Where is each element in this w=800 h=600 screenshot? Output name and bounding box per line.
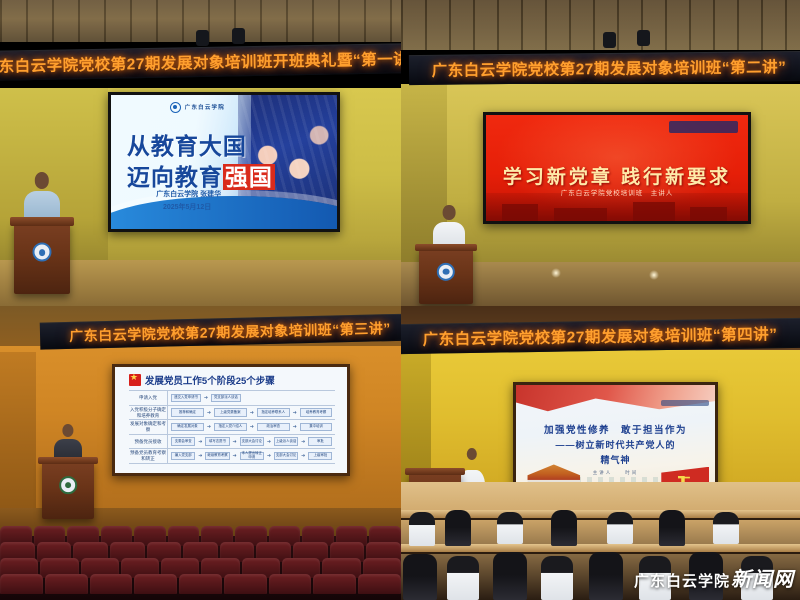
arrow-icon: ➜: [250, 410, 254, 416]
projector-screen-1: 广东白云学院 从教育大国 迈向教育强国 广东白云学院 张建华 2025年5月12…: [108, 92, 340, 232]
slide-4-title-line-1: 加强党性修养 敢于担当作为: [516, 422, 715, 436]
slide-2-building: [502, 204, 539, 221]
arrow-icon: ➜: [207, 410, 211, 416]
slide-4: 加强党性修养 敢于担当作为 ——树立新时代共产党人的 精气神 主讲人 时间: [516, 385, 715, 497]
podium-top: [415, 244, 477, 251]
slide-1-logo: 广东白云学院: [170, 102, 225, 113]
student: [493, 552, 527, 600]
step-cell: 推荐和确定: [171, 408, 204, 416]
slide-3-flow-table: 申请入党 递交入党申请书 ➜ 党支部派人谈话 入党积极分子确定和培养教育 推荐和…: [129, 390, 336, 467]
slide-1-subtitle-2: 2025年5月12日: [163, 202, 211, 212]
student: [447, 556, 479, 600]
student: [445, 510, 471, 546]
step-cell: 填写志愿书: [205, 437, 229, 445]
seat: [0, 574, 43, 594]
slide-2: 学习新党章 践行新要求 广东白云学院党校培训班 主讲人: [486, 115, 748, 221]
party-emblem-icon: [129, 374, 141, 386]
stage-steps: 确定发展对象 ➜ 指定入党介绍人 ➜ 政治审查 ➜ 集中培训: [168, 420, 335, 434]
wall-left-3: [0, 352, 36, 520]
step-cell: 上级党委备案: [214, 408, 247, 416]
collage-panel-2: 广东白云学院党校第27期发展对象培训班“第二讲” 学习新党章 践行新要求 广东白…: [401, 0, 800, 306]
table-row: 申请入党 递交入党申请书 ➜ 党支部派人谈话: [129, 391, 336, 406]
student: [713, 512, 739, 544]
step-cell: 继续教育考察: [205, 452, 229, 460]
arrow-icon: ➜: [250, 424, 254, 430]
slide-2-building: [554, 208, 606, 221]
floor-spotlight: [649, 270, 659, 280]
arrow-icon: ➜: [207, 424, 211, 430]
step-cell: 党支部派人谈话: [211, 394, 241, 402]
stage-steps: 推荐和确定 ➜ 上级党委备案 ➜ 指定培养联系人 ➜ 培养教育考察: [168, 406, 335, 420]
arrow-icon: ➜: [233, 439, 237, 445]
seat: [224, 574, 267, 594]
projector-screen-2: 学习新党章 践行新要求 广东白云学院党校培训班 主讲人: [483, 112, 751, 224]
seat: [358, 574, 401, 594]
student: [541, 556, 573, 600]
step-cell: 审批: [308, 437, 332, 445]
projector-screen-3: 发展党员工作5个阶段25个步骤 申请入党 递交入党申请书 ➜ 党支部派人谈话 入…: [112, 364, 350, 476]
speaker-head: [467, 448, 477, 460]
speaker-head: [35, 172, 49, 189]
student: [409, 512, 435, 546]
slide-2-corner-tag: [669, 121, 737, 133]
student: [659, 510, 685, 546]
student: [589, 552, 623, 600]
stage-label: 发展对象确定和考察: [129, 420, 168, 434]
seat: [269, 574, 312, 594]
event-banner-text: 广东白云学院党校第27期发展对象培训班“第三讲”: [69, 318, 391, 346]
collage-panel-3: 广东白云学院党校第27期发展对象培训班“第三讲” 发展党员工作5个阶段25个步骤…: [0, 306, 401, 600]
step-cell: 政治审查: [257, 423, 290, 431]
arrow-icon: ➜: [267, 453, 271, 459]
slide-4-title-line-3: 精气神: [516, 453, 715, 466]
podium-logo-icon: [437, 262, 455, 280]
podium-top: [405, 468, 464, 476]
arrow-icon: ➜: [293, 410, 297, 416]
slide-3-header: 发展党员工作5个阶段25个步骤: [129, 373, 275, 387]
slide-3-title: 发展党员工作5个阶段25个步骤: [145, 373, 275, 387]
arrow-icon: ➜: [233, 453, 237, 459]
step-cell: 递交入党申请书: [171, 394, 201, 402]
student: [551, 510, 577, 546]
student: [403, 554, 437, 600]
event-banner-2: 广东白云学院党校第27期发展对象培训班“第二讲”: [409, 51, 800, 85]
table-row: 发展对象确定和考察 确定发展对象 ➜ 指定入党介绍人 ➜ 政治审查 ➜ 集中培训: [129, 420, 336, 435]
stage-light-icon: [603, 32, 616, 48]
stage-light-icon: [196, 30, 209, 46]
slide-1-org: 广东白云学院: [185, 103, 225, 111]
slide-4-corner-tag: [661, 400, 709, 407]
stage-label: 申请入党: [129, 391, 168, 405]
slide-2-title: 学习新党章 践行新要求: [486, 162, 748, 189]
photo-collage: 广东白云学院党校第27期发展对象培训班开班典礼暨“第一讲” 广东白云学院 从教育…: [0, 0, 800, 600]
slide-2-building: [690, 207, 727, 221]
podium-1: [14, 222, 70, 294]
step-cell: 上级审批: [308, 452, 332, 460]
slide-1-title-line-2: 迈向教育强国: [127, 158, 275, 192]
slide-1-title-line-1: 从教育大国: [127, 127, 247, 161]
arrow-icon: ➜: [198, 453, 202, 459]
slide-2-subtitle: 广东白云学院党校培训班 主讲人: [486, 187, 748, 197]
stage-label: 入党积极分子确定和培养教育: [129, 406, 168, 420]
slide-4-title-line-2: ——树立新时代共产党人的: [516, 438, 715, 451]
podium-3: [42, 461, 94, 519]
arrow-icon: ➜: [293, 424, 297, 430]
seat: [313, 574, 356, 594]
arrow-icon: ➜: [301, 453, 305, 459]
slide-2-building: [633, 202, 675, 221]
step-cell: 支委会审查: [171, 437, 195, 445]
seat: [90, 574, 133, 594]
seat: [179, 574, 222, 594]
student: [607, 512, 633, 544]
stage-label: 预备党员教育考察和转正: [129, 449, 168, 463]
podium-top: [10, 217, 74, 226]
audience-seats-3: [0, 530, 401, 600]
event-banner-text: 广东白云学院党校第27期发展对象培训班开班典礼暨“第一讲”: [0, 47, 401, 77]
step-cell: 本人提出转正申请: [240, 452, 264, 460]
stage-label: 预备党员接收: [129, 435, 168, 449]
slide-1-title-line-2-plain: 迈向教育: [127, 164, 223, 190]
ceiling-grid-2: [401, 0, 800, 50]
step-cell: 培养教育考察: [300, 408, 333, 416]
table-row: 预备党员教育考察和转正 编入党支部 ➜ 继续教育考察 ➜ 本人提出转正申请 ➜ …: [129, 449, 336, 464]
seat-row: [0, 574, 401, 594]
step-cell: 集中培训: [300, 423, 333, 431]
watermark: 广东白云学院 新闻网: [634, 563, 794, 592]
table-row: 入党积极分子确定和培养教育 推荐和确定 ➜ 上级党委备案 ➜ 指定培养联系人 ➜…: [129, 406, 336, 421]
step-cell: 指定培养联系人: [257, 408, 290, 416]
podium-logo-icon: [32, 243, 51, 262]
slide-1: 广东白云学院 从教育大国 迈向教育强国 广东白云学院 张建华 2025年5月12…: [111, 95, 337, 229]
event-banner-4: 广东白云学院党校第27期发展对象培训班“第四讲”: [401, 318, 800, 354]
arrow-icon: ➜: [267, 439, 271, 445]
step-cell: 指定入党介绍人: [214, 423, 247, 431]
university-emblem-icon: [170, 102, 181, 113]
student: [497, 512, 523, 544]
step-cell: 编入党支部: [171, 452, 195, 460]
seat: [134, 574, 177, 594]
stage-light-icon: [637, 30, 650, 46]
step-cell: 支部大会讨论: [240, 437, 264, 445]
arrow-icon: ➜: [198, 439, 202, 445]
floor-spotlight: [551, 268, 561, 278]
event-banner-text: 广东白云学院党校第27期发展对象培训班“第二讲”: [432, 55, 787, 81]
podium-top: [38, 457, 97, 465]
arrow-icon: ➜: [301, 439, 305, 445]
podium-2: [419, 248, 473, 304]
watermark-org: 广东白云学院: [634, 570, 730, 591]
step-cell: 确定发展对象: [171, 423, 204, 431]
stage-steps: 递交入党申请书 ➜ 党支部派人谈话: [168, 391, 335, 405]
speaker-head: [62, 424, 73, 437]
arrow-icon: ➜: [204, 395, 208, 401]
stage-light-icon: [232, 28, 245, 44]
stage-steps: 支委会审查 ➜ 填写志愿书 ➜ 支部大会讨论 ➜ 上级派人谈话 ➜ 审批: [168, 435, 335, 449]
slide-1-subtitle-1: 广东白云学院 张建华: [156, 189, 221, 199]
collage-panel-1: 广东白云学院党校第27期发展对象培训班开班典礼暨“第一讲” 广东白云学院 从教育…: [0, 0, 401, 306]
step-cell: 上级派人谈话: [274, 437, 298, 445]
slide-3: 发展党员工作5个阶段25个步骤 申请入党 递交入党申请书 ➜ 党支部派人谈话 入…: [115, 367, 347, 473]
speaker-head: [443, 205, 456, 220]
stage-steps: 编入党支部 ➜ 继续教育考察 ➜ 本人提出转正申请 ➜ 支部大会讨论 ➜ 上级审…: [168, 449, 335, 463]
collage-panel-4: 广东白云学院党校第27期发展对象培训班“第四讲” 加强党性修养 敢于担当作为 —…: [401, 306, 800, 600]
seat: [45, 574, 88, 594]
podium-logo-icon: [59, 477, 77, 495]
slide-1-title-highlight: 强国: [223, 164, 275, 190]
watermark-site: 新闻网: [731, 563, 794, 592]
table-row: 预备党员接收 支委会审查 ➜ 填写志愿书 ➜ 支部大会讨论 ➜ 上级派人谈话 ➜…: [129, 435, 336, 450]
step-cell: 支部大会讨论: [274, 452, 298, 460]
event-banner-text: 广东白云学院党校第27期发展对象培训班“第四讲”: [422, 322, 777, 350]
